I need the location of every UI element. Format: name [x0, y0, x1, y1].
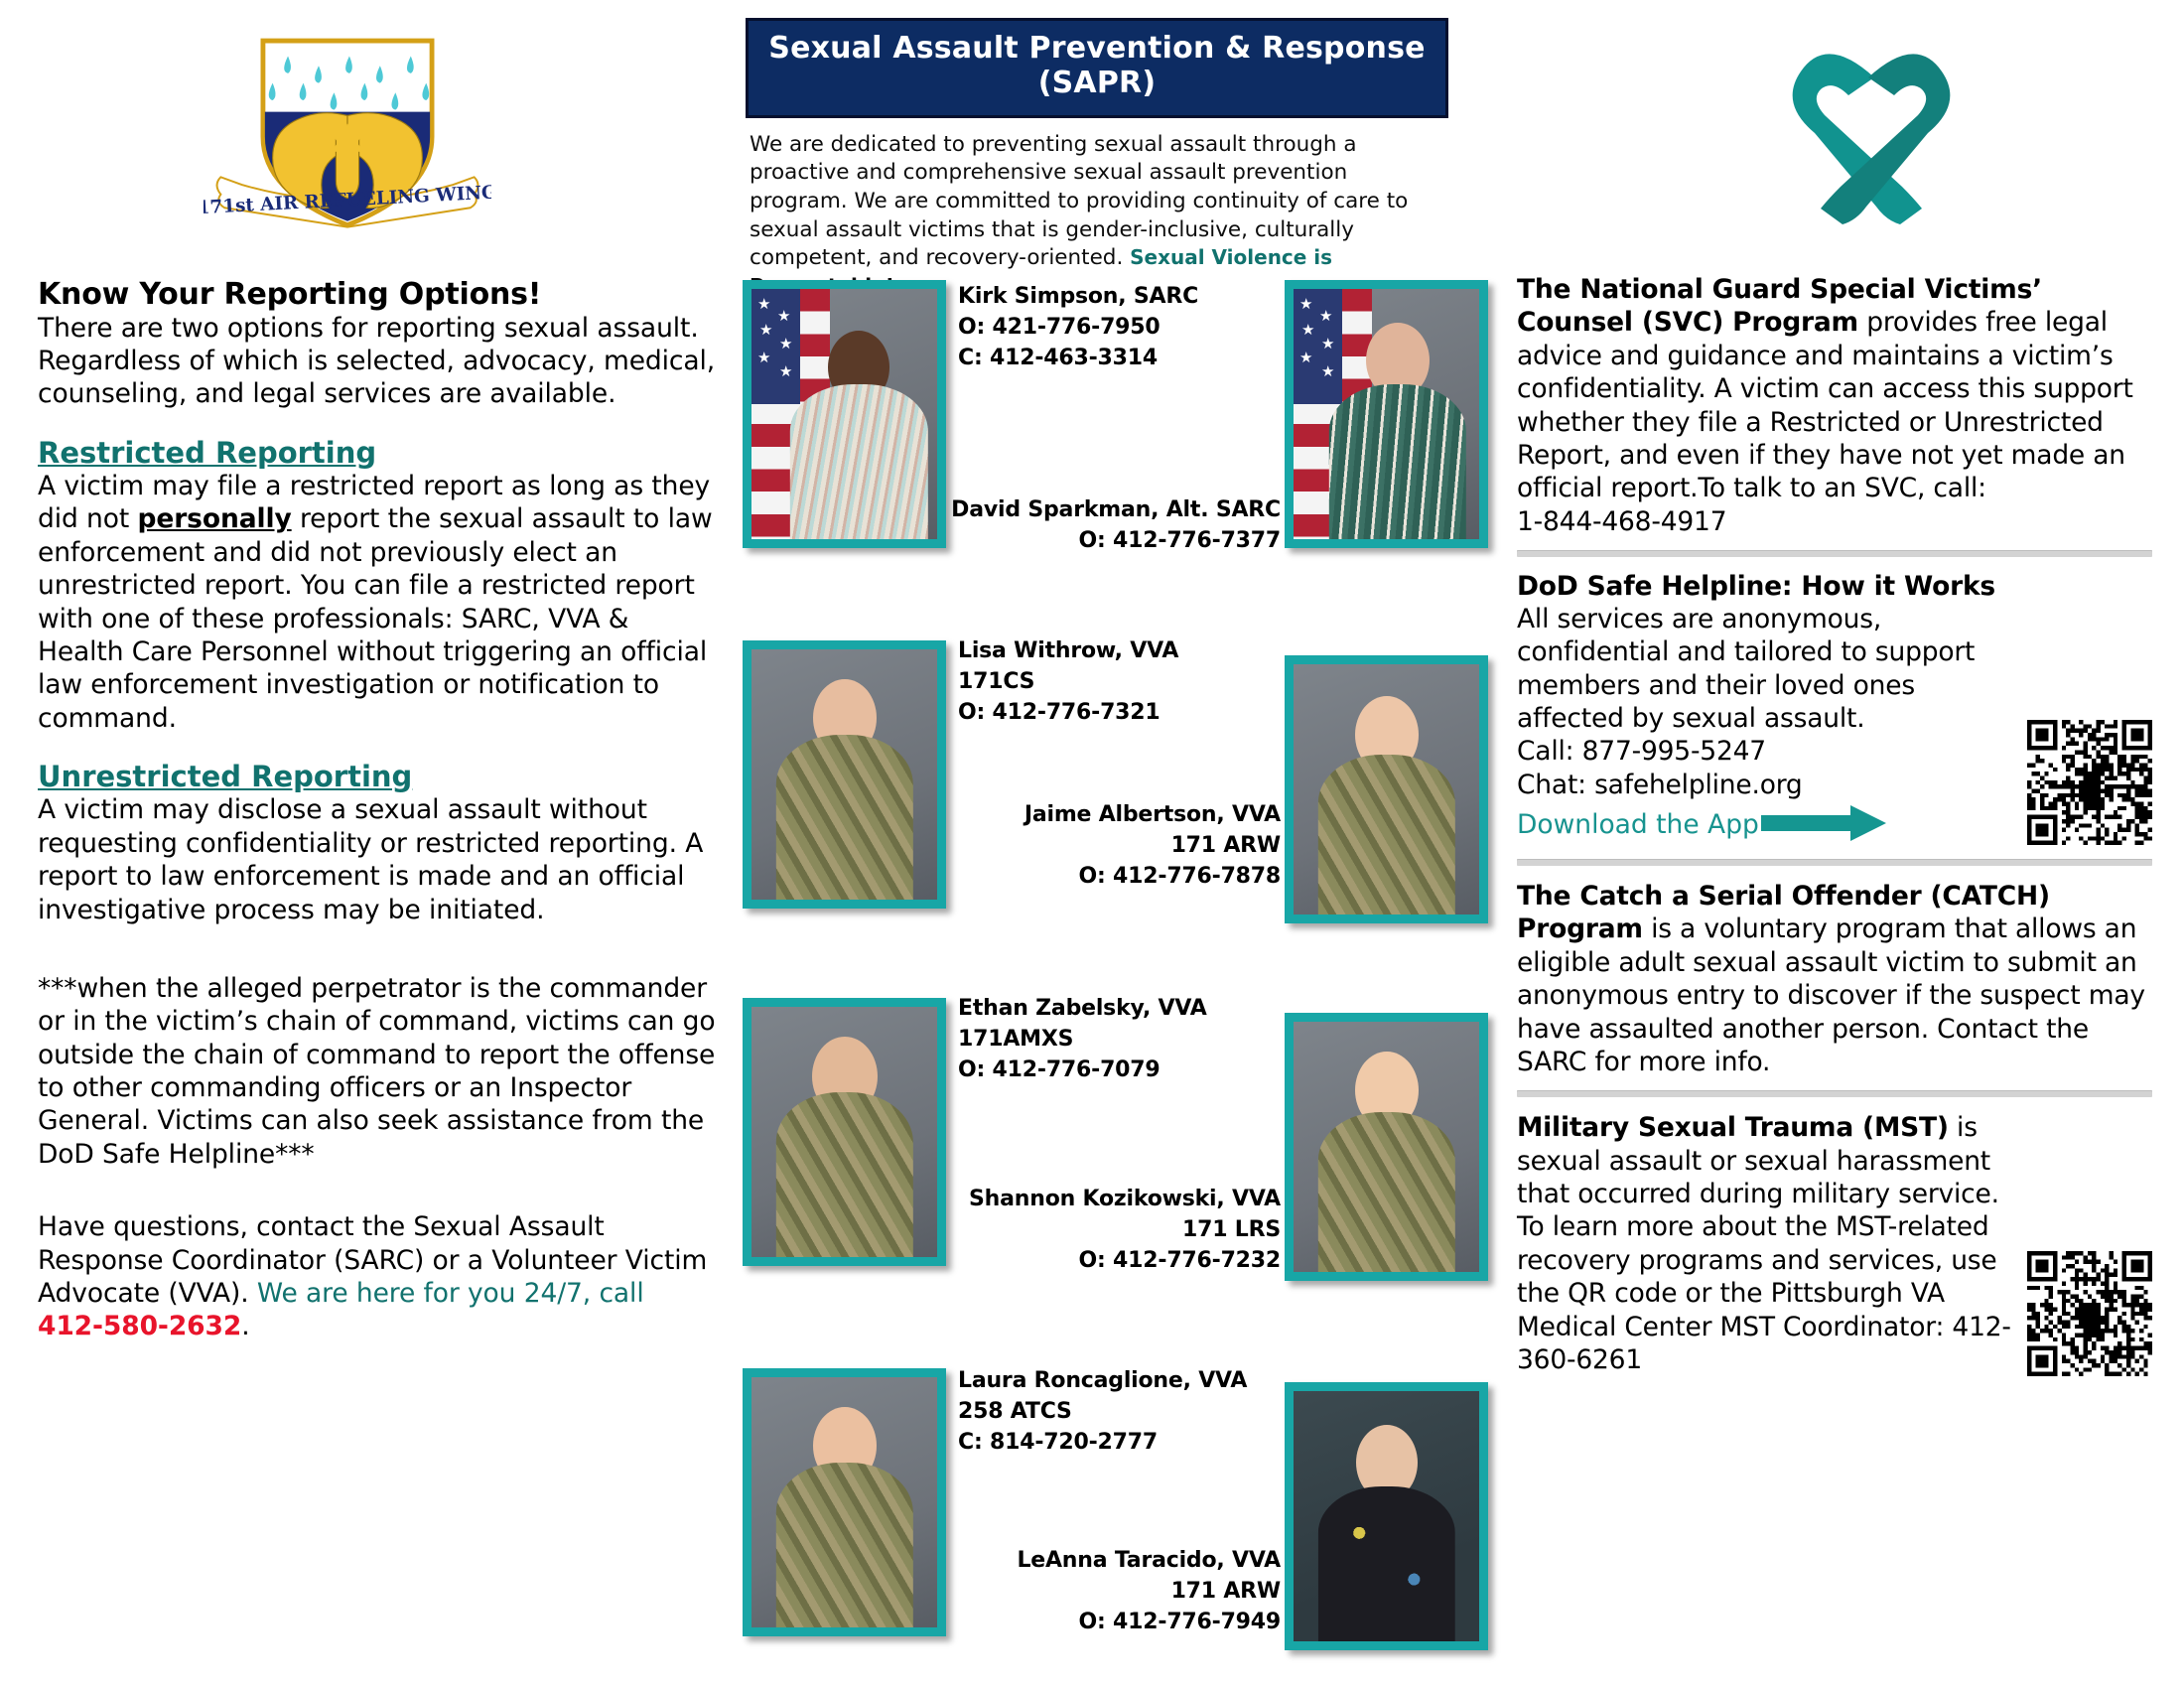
- contact-name: Laura Roncaglione, VVA: [958, 1365, 1286, 1396]
- nameplate-shannon-kozikowski: Shannon Kozikowski, VVA 171 LRS O: 412-7…: [893, 1184, 1281, 1277]
- contact-unit: 171 ARW: [893, 1576, 1281, 1607]
- photo-shannon-kozikowski: [1285, 1013, 1488, 1281]
- contact-name: Jaime Albertson, VVA: [893, 799, 1281, 830]
- contact-phone-cell[interactable]: C: 412-463-3314: [958, 343, 1286, 373]
- arrow-right-icon: [1759, 803, 1888, 847]
- restricted-part2: report the sexual assault to law enforce…: [38, 503, 713, 733]
- sapr-title-line2: (SAPR): [756, 66, 1437, 100]
- divider-2: [1517, 859, 2152, 866]
- catch-section: The Catch a Serial Offender (CATCH) Prog…: [1517, 880, 2152, 1078]
- teal-awareness-ribbon: [1747, 12, 1995, 260]
- left-column: Know Your Reporting Options! There are t…: [38, 278, 723, 1343]
- nameplate-laura-roncaglione: Laura Roncaglione, VVA 258 ATCS C: 814-7…: [958, 1365, 1286, 1459]
- center-column: Sexual Assault Prevention & Response (SA…: [740, 18, 1474, 301]
- restricted-reporting-body: A victim may file a restricted report as…: [38, 470, 723, 735]
- mst-section: Military Sexual Trauma (MST) is sexual a…: [1517, 1111, 2152, 1376]
- nameplate-leanna-taracido: LeAnna Taracido, VVA 171 ARW O: 412-776-…: [893, 1545, 1281, 1638]
- left-heading: Know Your Reporting Options!: [38, 278, 723, 312]
- contact-teal-line: We are here for you 24/7, call: [257, 1278, 644, 1309]
- contact-phone-office[interactable]: O: 412-776-7232: [893, 1245, 1281, 1276]
- safe-helpline-qr-code[interactable]: [2027, 720, 2152, 845]
- nameplate-ethan-zabelsky: Ethan Zabelsky, VVA 171AMXS O: 412-776-7…: [958, 993, 1286, 1086]
- contact-phone-office[interactable]: O: 412-776-7949: [893, 1607, 1281, 1637]
- sapr-title-line1: Sexual Assault Prevention & Response: [756, 31, 1437, 66]
- left-intro-paragraph: There are two options for reporting sexu…: [38, 312, 723, 411]
- contact-name: Shannon Kozikowski, VVA: [893, 1184, 1281, 1214]
- mst-body: is sexual assault or sexual harassment t…: [1517, 1112, 2011, 1375]
- contact-unit: 171 LRS: [893, 1214, 1281, 1245]
- sapr-banner: Sexual Assault Prevention & Response (SA…: [746, 18, 1448, 118]
- photo-david-sparkman: ★★ ★★ ★★: [1285, 280, 1488, 548]
- contact-period: .: [241, 1311, 249, 1341]
- contact-unit: 171CS: [958, 666, 1286, 697]
- safe-helpline-title: DoD Safe Helpline: How it Works: [1517, 571, 2152, 603]
- mst-title: Military Sexual Trauma (MST): [1517, 1112, 1949, 1143]
- photo-leanna-taracido: [1285, 1382, 1488, 1650]
- sarc-phone-number[interactable]: 412-580-2632: [38, 1311, 241, 1341]
- contact-name: Lisa Withrow, VVA: [958, 635, 1286, 666]
- unrestricted-reporting-title: Unrestricted Reporting: [38, 761, 723, 793]
- contact-name: Kirk Simpson, SARC: [958, 281, 1286, 312]
- contact-phone-office[interactable]: O: 412-776-7079: [958, 1055, 1286, 1085]
- photo-jaime-albertson: [1285, 655, 1488, 923]
- divider-1: [1517, 550, 2152, 557]
- contact-unit: 171 ARW: [893, 830, 1281, 861]
- contact-phone-office[interactable]: O: 412-776-7321: [958, 697, 1286, 728]
- contact-name: LeAnna Taracido, VVA: [893, 1545, 1281, 1576]
- sapr-intro-paragraph: We are dedicated to preventing sexual as…: [750, 131, 1444, 302]
- right-column: The National Guard Special Victims’ Coun…: [1517, 273, 2152, 1376]
- sapr-intro-teal: Sexual Violence is: [1130, 245, 1332, 269]
- nameplate-jaime-albertson: Jaime Albertson, VVA 171 ARW O: 412-776-…: [893, 799, 1281, 893]
- chain-of-command-note: ***when the alleged perpetrator is the c…: [38, 972, 723, 1171]
- safe-helpline-section: DoD Safe Helpline: How it Works All serv…: [1517, 571, 2152, 847]
- sapr-flyer: 171st AIR REFUELING WING Sexual Assault …: [0, 0, 2184, 1688]
- contact-name: David Sparkman, Alt. SARC: [893, 494, 1281, 525]
- svc-section: The National Guard Special Victims’ Coun…: [1517, 273, 2152, 538]
- contact-name: Ethan Zabelsky, VVA: [958, 993, 1286, 1024]
- safe-helpline-body: All services are anonymous, confidential…: [1517, 603, 2017, 736]
- restricted-emphasis: personally: [137, 503, 291, 534]
- unrestricted-reporting-body: A victim may disclose a sexual assault w…: [38, 793, 723, 926]
- contact-phone-office[interactable]: O: 412-776-7878: [893, 861, 1281, 892]
- 171st-air-refueling-wing-emblem: 171st AIR REFUELING WING: [204, 22, 491, 265]
- nameplate-kirk-simpson: Kirk Simpson, SARC O: 421-776-7950 C: 41…: [958, 281, 1286, 374]
- contact-paragraph: Have questions, contact the Sexual Assau…: [38, 1210, 723, 1343]
- nameplate-david-sparkman: David Sparkman, Alt. SARC O: 412-776-737…: [893, 494, 1281, 556]
- safe-helpline-call[interactable]: Call: 877-995-5247: [1517, 735, 2017, 768]
- restricted-reporting-title: Restricted Reporting: [38, 437, 723, 470]
- contact-phone-cell[interactable]: C: 814-720-2777: [958, 1427, 1286, 1458]
- svc-phone[interactable]: 1-844-468-4917: [1517, 505, 2152, 538]
- contact-phone-office[interactable]: O: 412-776-7377: [893, 525, 1281, 556]
- nameplate-lisa-withrow: Lisa Withrow, VVA 171CS O: 412-776-7321: [958, 635, 1286, 729]
- contact-phone-office[interactable]: O: 421-776-7950: [958, 312, 1286, 343]
- mst-qr-code[interactable]: [2027, 1251, 2152, 1376]
- contact-unit: 171AMXS: [958, 1024, 1286, 1055]
- download-app-label[interactable]: Download the App: [1517, 810, 1759, 839]
- safe-helpline-chat[interactable]: Chat: safehelpline.org: [1517, 769, 2017, 801]
- divider-3: [1517, 1090, 2152, 1097]
- contact-unit: 258 ATCS: [958, 1396, 1286, 1427]
